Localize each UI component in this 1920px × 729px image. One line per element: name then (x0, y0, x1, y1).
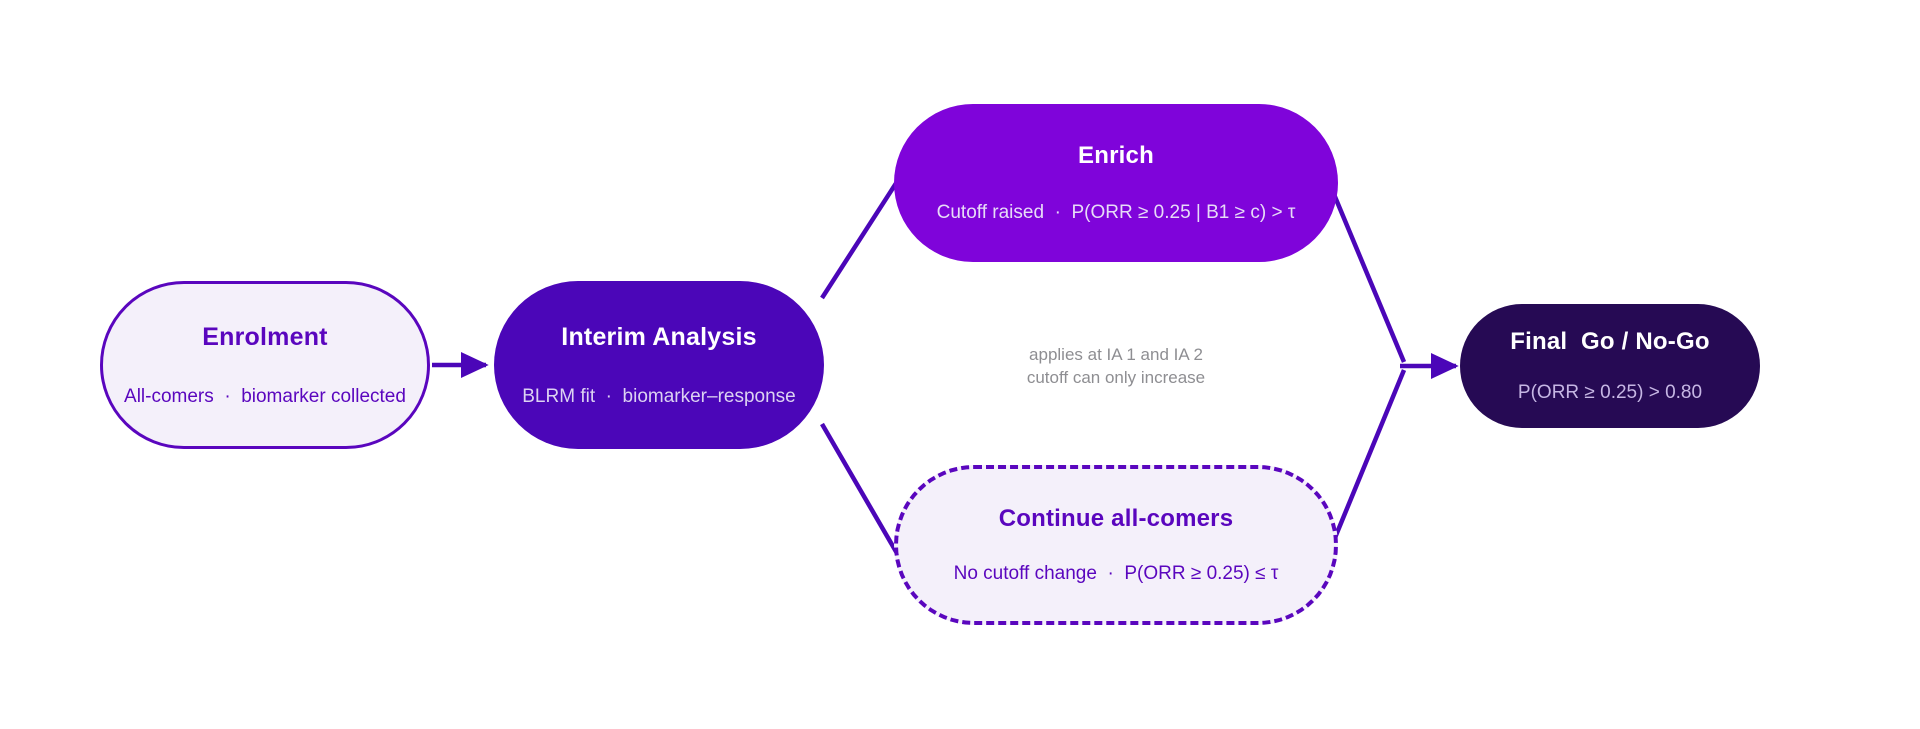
edge-interim-to-continue (822, 424, 898, 555)
flowchart-canvas: Enrolment All-comers · biomarker collect… (0, 0, 1920, 729)
node-enrich[interactable]: Enrich Cutoff raised · P(ORR ≥ 0.25 | B1… (894, 104, 1338, 262)
node-enrich-title: Enrich (1078, 142, 1154, 170)
node-interim-analysis-title: Interim Analysis (561, 323, 756, 352)
node-final-go-no-go-title: Final Go / No-Go (1510, 328, 1709, 356)
edge-continue-to-merge (1332, 370, 1404, 545)
node-interim-analysis[interactable]: Interim Analysis BLRM fit · biomarker–re… (494, 281, 824, 449)
decision-annotation: applies at IA 1 and IA 2 cutoff can only… (894, 343, 1338, 390)
node-enrolment-title: Enrolment (202, 323, 327, 352)
node-enrolment[interactable]: Enrolment All-comers · biomarker collect… (100, 281, 430, 449)
node-enrolment-subtitle: All-comers · biomarker collected (124, 386, 406, 408)
edge-enrich-to-merge (1328, 180, 1404, 362)
node-enrich-subtitle: Cutoff raised · P(ORR ≥ 0.25 | B1 ≥ c) >… (937, 202, 1296, 224)
node-final-go-no-go[interactable]: Final Go / No-Go P(ORR ≥ 0.25) > 0.80 (1460, 304, 1760, 428)
node-final-go-no-go-subtitle: P(ORR ≥ 0.25) > 0.80 (1518, 382, 1702, 404)
node-continue-all-comers-subtitle: No cutoff change · P(ORR ≥ 0.25) ≤ τ (954, 563, 1279, 585)
node-continue-all-comers[interactable]: Continue all-comers No cutoff change · P… (894, 465, 1338, 625)
node-continue-all-comers-title: Continue all-comers (999, 505, 1234, 533)
decision-annotation-line-1: applies at IA 1 and IA 2 (894, 343, 1338, 366)
decision-annotation-line-2: cutoff can only increase (894, 366, 1338, 389)
node-interim-analysis-subtitle: BLRM fit · biomarker–response (522, 386, 796, 408)
